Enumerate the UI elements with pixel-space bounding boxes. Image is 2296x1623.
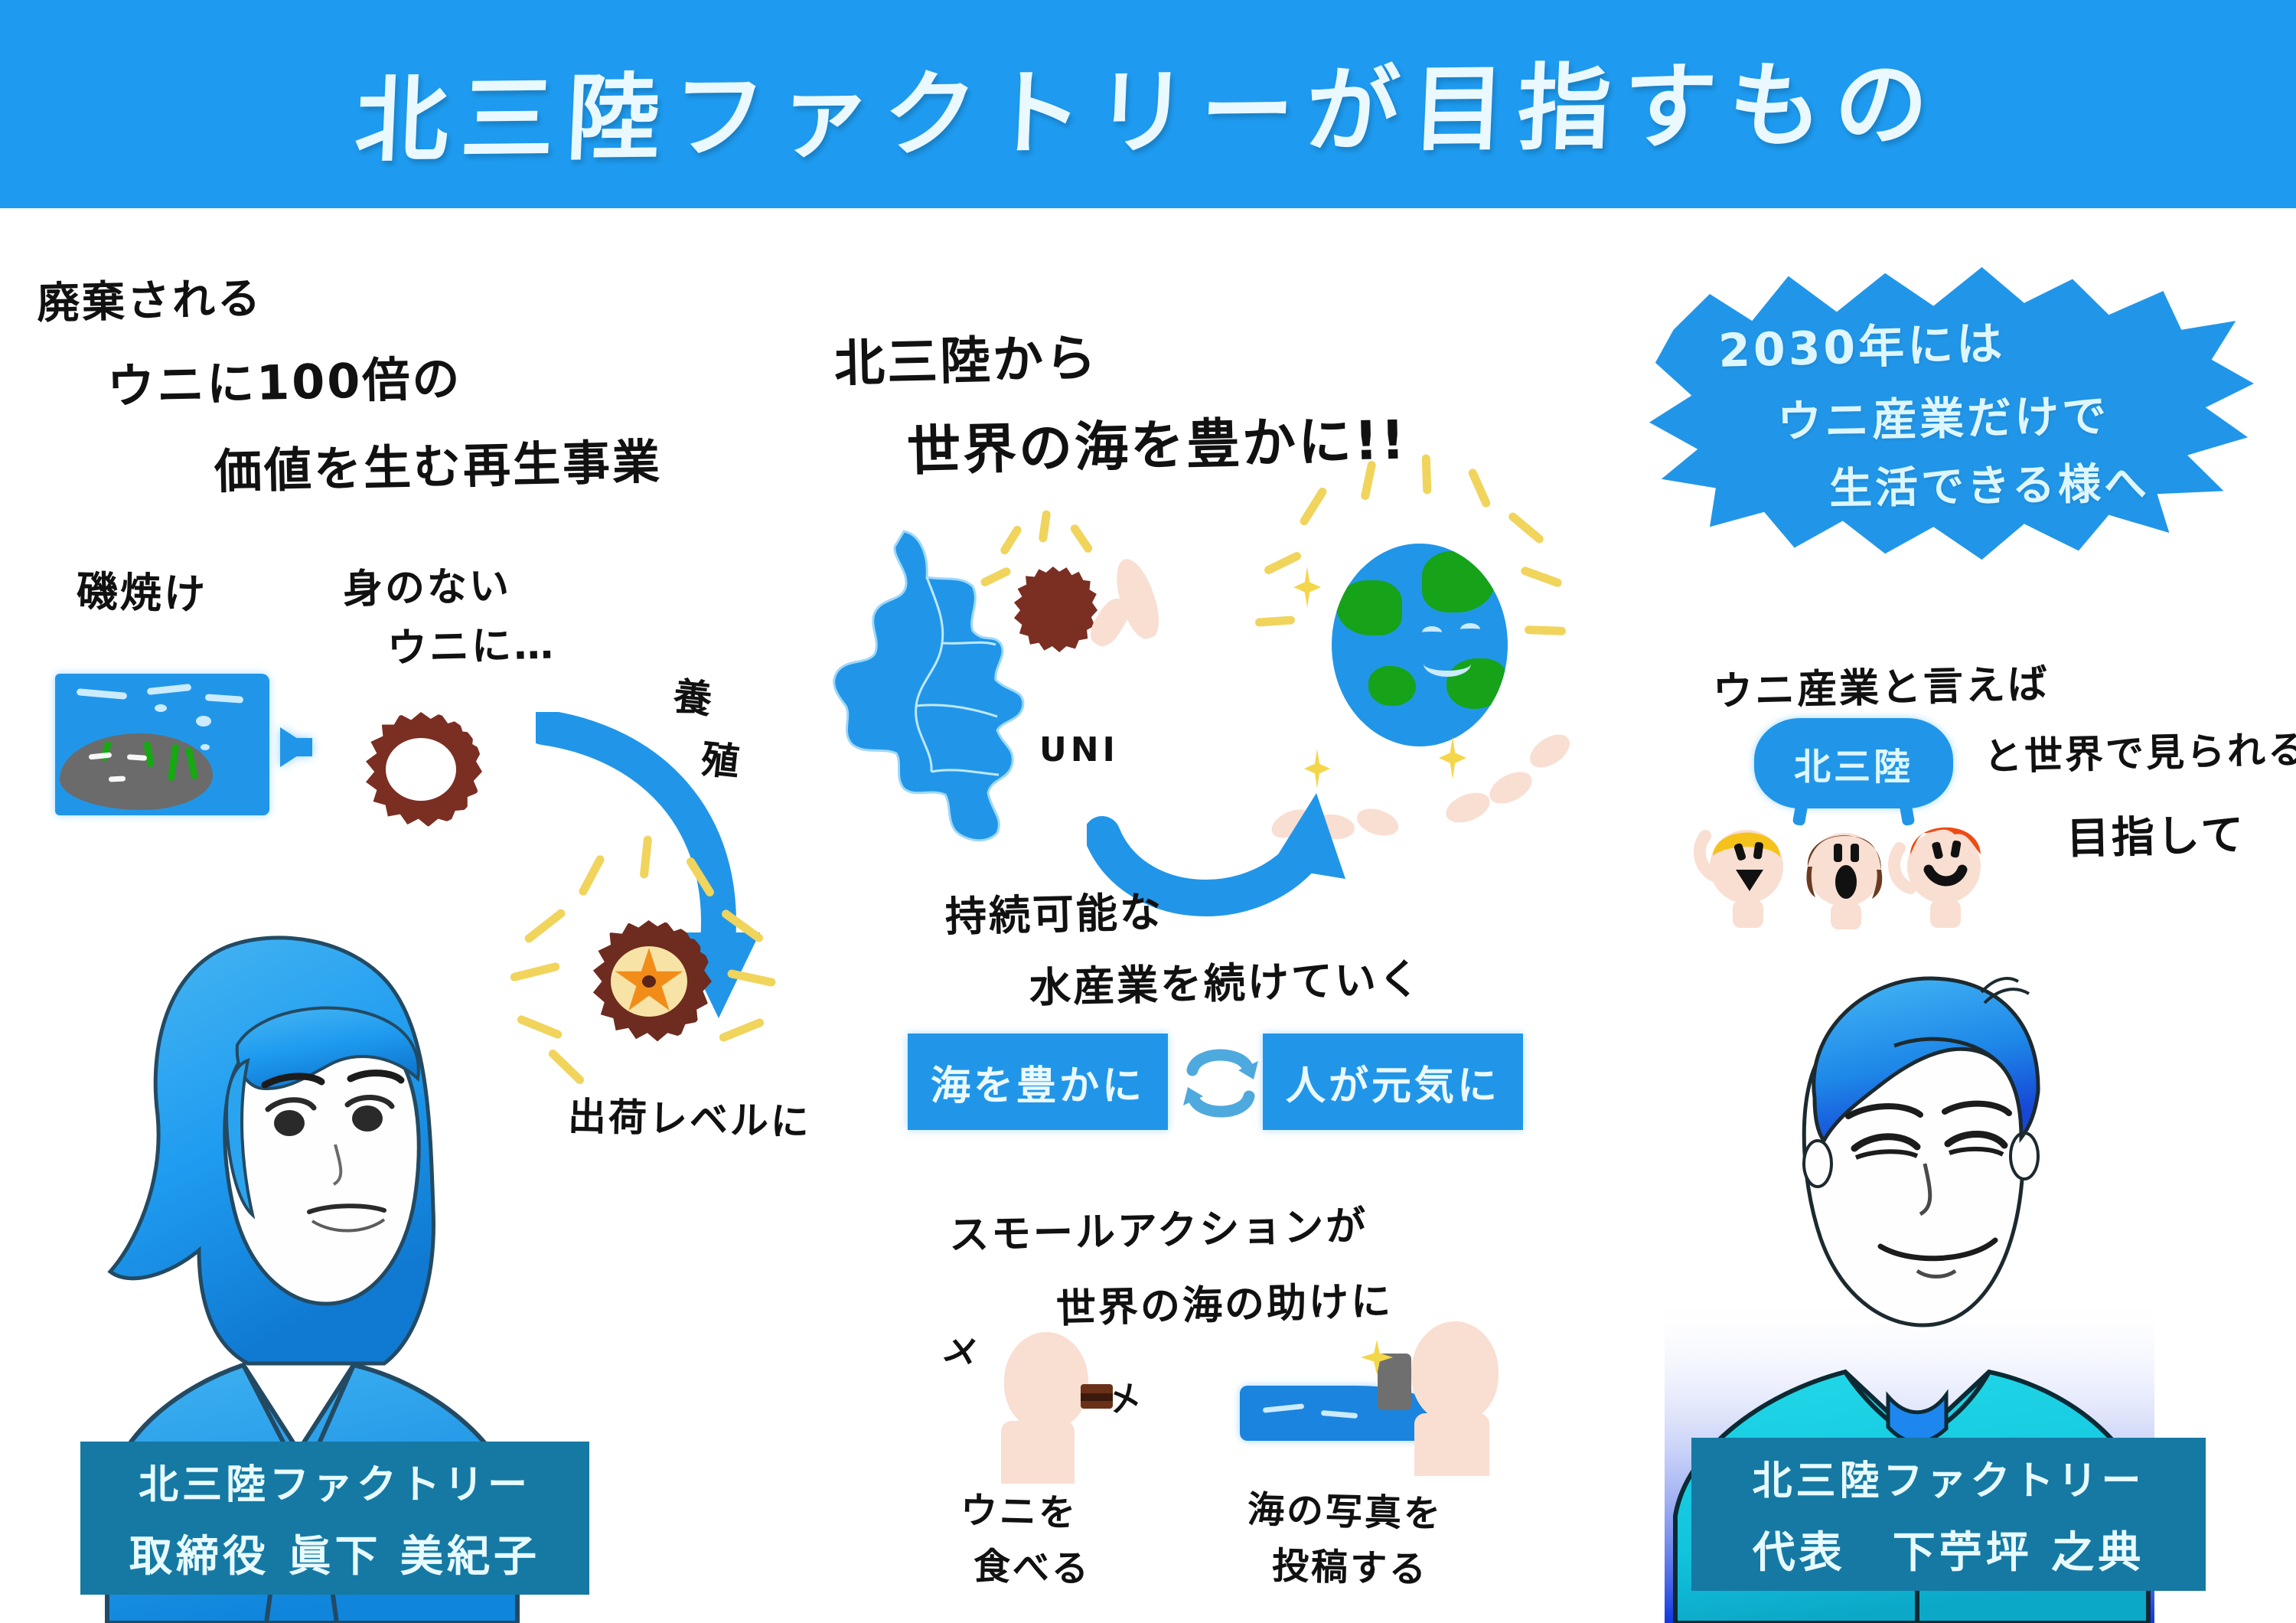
person-body xyxy=(1001,1421,1075,1484)
urchin-shell-ring xyxy=(360,712,482,827)
shine-ray xyxy=(1298,486,1328,527)
sustainability-line-2: 水産業を続けていく xyxy=(1029,952,1422,1014)
center-headline-line-1: 北三陸から xyxy=(833,326,1099,397)
wave-line xyxy=(1263,1403,1304,1413)
shine-ray xyxy=(1525,625,1566,635)
sustainability-line-1: 持続可能な xyxy=(944,886,1163,944)
shine-ray xyxy=(1422,454,1432,494)
kitasanriku-speech-pill: 北三陸 xyxy=(1754,718,1953,808)
nameplate-right-name: 代表 下苧坪 之典 xyxy=(1753,1518,2145,1580)
shine-ray xyxy=(1039,510,1052,543)
nameplate-right-org: 北三陸ファクトリー xyxy=(1752,1448,2144,1506)
wave-line xyxy=(205,694,244,703)
cycle-arrows-icon xyxy=(1179,1035,1263,1130)
landmass xyxy=(1422,551,1495,612)
mi-no-nai-line-2: ウニに… xyxy=(386,620,556,675)
nameplate-left: 北三陸ファクトリー 取締役 眞下 美紀子 xyxy=(80,1442,589,1595)
small-action-line-1: スモールアクションが xyxy=(948,1201,1368,1262)
small-action-line-2: 世界の海の助けに xyxy=(1055,1276,1393,1335)
person-blob xyxy=(1442,787,1494,828)
wave-line xyxy=(1321,1410,1358,1419)
cycle-box-people[interactable]: 人が元気に xyxy=(1263,1034,1523,1130)
action-1-caption-line-2: 食べる xyxy=(973,1543,1091,1593)
excitement-mark: メ xyxy=(938,1324,986,1378)
urchin-center-dot xyxy=(642,975,656,988)
bubble-icon xyxy=(196,716,211,727)
nameplate-right: 北三陸ファクトリー 代表 下苧坪 之典 xyxy=(1691,1438,2206,1591)
smartphone-icon xyxy=(1378,1354,1411,1410)
shine-ray xyxy=(1069,523,1094,554)
excitement-mark: メ xyxy=(1104,1375,1146,1422)
person-blob xyxy=(1485,766,1538,810)
right-text-line-3: 目指して xyxy=(2066,808,2246,867)
shine-ray xyxy=(1467,468,1492,509)
person-body xyxy=(1414,1413,1489,1476)
left-headline-line-2: ウニに100倍の xyxy=(106,348,462,417)
shipping-level-label: 出荷レベルに xyxy=(567,1092,811,1147)
earth-smile xyxy=(1424,651,1471,677)
left-headline-line-3: 価値を生む再生事業 xyxy=(214,431,663,502)
landmass xyxy=(1336,580,1402,635)
smiling-earth-icon xyxy=(1332,544,1508,746)
sparkle-icon xyxy=(1293,567,1321,608)
shine-ray xyxy=(1263,550,1303,576)
ripe-urchin-icon xyxy=(551,888,742,1079)
burst-line-3: 生活できる様へ xyxy=(1828,449,2150,516)
bubble-icon xyxy=(201,744,210,750)
earth-eye xyxy=(1422,626,1442,638)
title-banner: 北三陸ファクトリーが目指すもの xyxy=(0,0,2296,208)
nameplate-left-name: 取締役 眞下 美紀子 xyxy=(129,1522,540,1584)
sparkle-icon xyxy=(1439,736,1466,779)
graphic-recording-canvas: 北三陸ファクトリーが目指すもの 廃棄される ウニに100倍の 価値を生む再生事業… xyxy=(0,0,2296,1623)
isoyake-sea-illustration xyxy=(55,674,269,815)
action-1-caption-line-1: ウニを xyxy=(960,1487,1078,1537)
burst-line-1: 2030年には xyxy=(1717,306,2006,380)
left-headline-line-1: 廃棄される xyxy=(36,272,263,331)
person-blob xyxy=(1524,728,1575,775)
earth-eye xyxy=(1460,623,1480,635)
isoyake-label: 磯焼け xyxy=(76,565,208,621)
shine-ray xyxy=(1507,511,1545,544)
page-title: 北三陸ファクトリーが目指すもの xyxy=(353,28,1943,181)
burst-line-2: ウニ産業だけで xyxy=(1776,380,2109,450)
right-arrow-icon xyxy=(280,727,311,767)
wave-line xyxy=(77,688,128,700)
empty-urchin-icon xyxy=(360,712,482,827)
wave-line xyxy=(147,684,192,695)
nameplate-left-org: 北三陸ファクトリー xyxy=(139,1452,531,1510)
action-2-caption-line-1: 海の写真を xyxy=(1247,1487,1443,1539)
action-2-caption-line-2: 投稿する xyxy=(1271,1543,1428,1594)
landmass xyxy=(1368,666,1416,706)
right-text-line-2: と世界で見られることを xyxy=(1983,722,2296,781)
center-headline-line-2: 世界の海を豊かに!! xyxy=(906,407,1408,486)
cycle-box-sea[interactable]: 海を豊かに xyxy=(908,1034,1168,1130)
mi-no-nai-line-1: 身のない xyxy=(342,561,511,616)
shine-ray xyxy=(547,1048,586,1086)
rock-highlight xyxy=(109,776,126,782)
right-text-line-1: ウニ産業と言えば xyxy=(1712,659,2050,718)
bubble-icon xyxy=(155,704,167,712)
shine-ray xyxy=(1255,616,1296,627)
person-posting-sea-photo-icon xyxy=(1411,1321,1499,1422)
person-eating-uni-icon xyxy=(1004,1332,1088,1430)
shine-ray xyxy=(1520,566,1563,588)
